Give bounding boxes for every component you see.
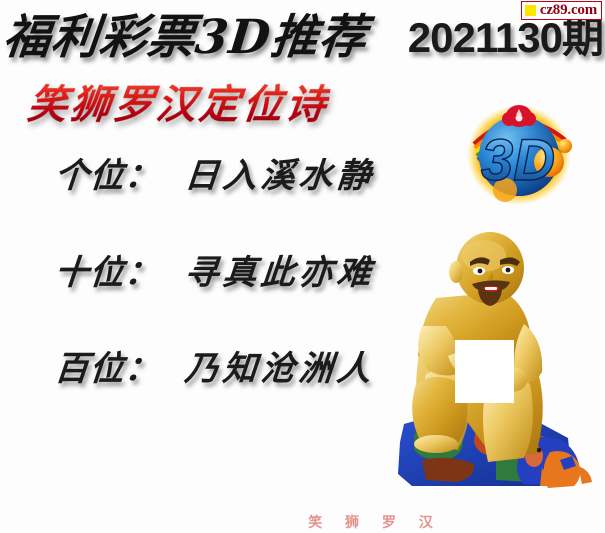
logo-3d-text: 3D <box>481 128 555 193</box>
blank-white-square-overlay <box>455 340 514 403</box>
watermark-text: cz89.com <box>540 3 597 18</box>
verse-tens: 寻真此亦难 <box>169 253 376 293</box>
position-label-ones: 个位 <box>53 156 126 196</box>
site-watermark: cz89.com <box>521 1 602 20</box>
subtitle: 笑狮罗汉定位诗 <box>24 72 332 130</box>
colon-tens: ： <box>123 253 172 293</box>
verse-ones: 日入溪水静 <box>169 156 376 196</box>
page-title: 福利彩票3D推荐 <box>0 0 371 67</box>
statue-caption: 笑 狮 罗 汉 <box>0 512 605 532</box>
position-label-tens: 十位 <box>53 253 126 293</box>
poem-line-tens-digit: 十位：寻真此亦难 <box>53 245 377 294</box>
colon-hundreds: ： <box>123 349 172 389</box>
colon-ones: ： <box>123 156 172 196</box>
yellow-square-icon <box>525 5 536 16</box>
lottery-poster: cz89.com 福利彩票3D推荐 2021130期 笑狮罗汉定位诗 个位：日入… <box>0 0 605 533</box>
verse-hundreds: 乃知沧洲人 <box>169 349 376 389</box>
poem-line-hundreds-digit: 百位：乃知沧洲人 <box>53 341 377 390</box>
statue-head <box>449 232 524 306</box>
poem-line-ones-digit: 个位：日入溪水静 <box>53 148 377 197</box>
position-label-hundreds: 百位 <box>53 349 126 389</box>
lottery-3d-logo: 3D <box>461 100 577 208</box>
